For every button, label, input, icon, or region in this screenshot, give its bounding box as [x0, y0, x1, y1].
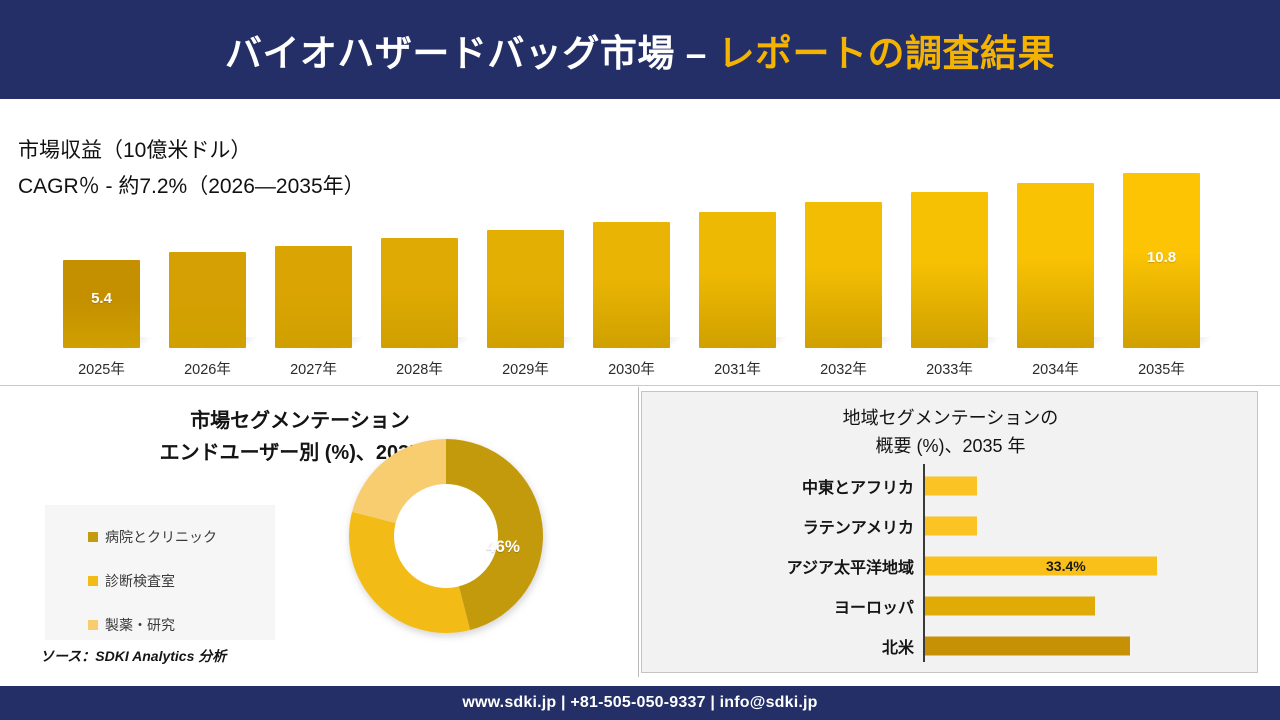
- region-title: 地域セグメンテーションの 概要 (%)、2035 年: [642, 404, 1259, 460]
- legend-item[interactable]: 製薬・研究: [88, 615, 175, 635]
- region-bar-row: ラテンアメリカ: [642, 506, 1259, 546]
- revenue-bar-plot: 5.42025年2026年2027年2028年2029年2030年2031年20…: [0, 108, 1280, 386]
- region-bar-row: 中東とアフリカ: [642, 466, 1259, 506]
- page-header: バイオハザードバッグ市場 – レポートの調査結果: [0, 0, 1280, 102]
- region-bar[interactable]: [925, 637, 1130, 656]
- donut-hole: [394, 484, 498, 588]
- page-title-accent: レポートの調査結果: [718, 33, 1056, 74]
- page-title: バイオハザードバッグ市場 – レポートの調査結果: [225, 23, 1055, 77]
- revenue-bar-value: 5.4: [63, 290, 140, 307]
- source-note: ソース：SDKI Analytics 分析: [40, 646, 226, 666]
- region-title-line1: 地域セグメンテーションの: [642, 404, 1259, 432]
- revenue-bar-label: 2027年: [269, 358, 358, 379]
- region-bar[interactable]: [925, 557, 1157, 576]
- revenue-bar-group: 2034年: [1017, 183, 1094, 348]
- page-footer: www.sdki.jp | +81-505-050-9337 | info@sd…: [0, 684, 1280, 720]
- region-bar-plot: 中東とアフリカラテンアメリカアジア太平洋地域33.4%ヨーロッパ北米: [642, 464, 1259, 664]
- donut-chart: 46%: [326, 407, 566, 665]
- region-bar-row: アジア太平洋地域33.4%: [642, 546, 1259, 586]
- revenue-bar-group: 5.42025年: [63, 260, 140, 348]
- revenue-bar: [169, 252, 246, 348]
- revenue-bar-label: 2031年: [693, 358, 782, 379]
- revenue-bar-group: 2032年: [805, 202, 882, 348]
- revenue-chart-panel: 市場収益（10億米ドル） CAGR％ - 約7.2%（2026―2035年） 5…: [0, 108, 1280, 386]
- revenue-bar-label: 2035年: [1117, 358, 1206, 379]
- donut-value-label: 46%: [486, 537, 520, 557]
- revenue-bar-group: 2026年: [169, 252, 246, 348]
- legend-item[interactable]: 診断検査室: [88, 571, 175, 591]
- region-bar-label: アジア太平洋地域: [787, 554, 914, 578]
- region-bar-value: 33.4%: [1046, 558, 1086, 574]
- revenue-bar-label: 2030年: [587, 358, 676, 379]
- region-bar[interactable]: [925, 597, 1095, 616]
- revenue-bar-label: 2026年: [163, 358, 252, 379]
- region-bar-label: 中東とアフリカ: [802, 474, 914, 498]
- region-title-line2: 概要 (%)、2035 年: [642, 432, 1259, 460]
- revenue-bar: [805, 202, 882, 348]
- region-bar-label: 北米: [882, 634, 914, 658]
- segmentation-legend: 病院とクリニック診断検査室製薬・研究: [45, 505, 275, 640]
- legend-item-label: 製薬・研究: [105, 615, 175, 635]
- revenue-bar-group: 2030年: [593, 222, 670, 348]
- legend-item-label: 病院とクリニック: [105, 527, 217, 547]
- revenue-bar-label: 2028年: [375, 358, 464, 379]
- revenue-bar-group: 2028年: [381, 238, 458, 348]
- revenue-bar-value: 10.8: [1123, 249, 1200, 266]
- revenue-bar: [593, 222, 670, 348]
- revenue-bar-group: 2027年: [275, 246, 352, 348]
- revenue-bar-label: 2034年: [1011, 358, 1100, 379]
- revenue-bar: [699, 212, 776, 348]
- region-chart-panel: 地域セグメンテーションの 概要 (%)、2035 年 中東とアフリカラテンアメリ…: [641, 391, 1258, 673]
- legend-item-label: 診断検査室: [105, 571, 175, 591]
- region-bar-row: ヨーロッパ: [642, 586, 1259, 626]
- page-title-main: バイオハザードバッグ市場 –: [225, 33, 707, 74]
- revenue-bar-label: 2025年: [57, 358, 146, 379]
- revenue-bar-label: 2029年: [481, 358, 570, 379]
- segmentation-panel: 市場セグメンテーション エンドユーザー別 (%)、2035年 病院とクリニック診…: [0, 387, 639, 677]
- footer-contact: www.sdki.jp | +81-505-050-9337 | info@sd…: [462, 694, 817, 712]
- legend-swatch-icon: [88, 532, 98, 542]
- revenue-bar-group: 10.82035年: [1123, 173, 1200, 348]
- revenue-bar: [381, 238, 458, 348]
- revenue-bar: [911, 192, 988, 348]
- revenue-bar: [487, 230, 564, 348]
- region-bar-row: 北米: [642, 626, 1259, 666]
- revenue-bar: [1017, 183, 1094, 348]
- legend-swatch-icon: [88, 576, 98, 586]
- region-bar[interactable]: [925, 517, 977, 536]
- revenue-bar-label: 2032年: [799, 358, 888, 379]
- revenue-bar-group: 2033年: [911, 192, 988, 348]
- legend-item[interactable]: 病院とクリニック: [88, 527, 217, 547]
- revenue-bar-group: 2031年: [699, 212, 776, 348]
- revenue-bar-label: 2033年: [905, 358, 994, 379]
- legend-swatch-icon: [88, 620, 98, 630]
- region-bar-label: ヨーロッパ: [834, 594, 914, 618]
- region-bar-label: ラテンアメリカ: [803, 514, 914, 538]
- region-bar[interactable]: [925, 477, 977, 496]
- revenue-bar: [275, 246, 352, 348]
- revenue-bar-group: 2029年: [487, 230, 564, 348]
- donut-svg: [326, 407, 566, 665]
